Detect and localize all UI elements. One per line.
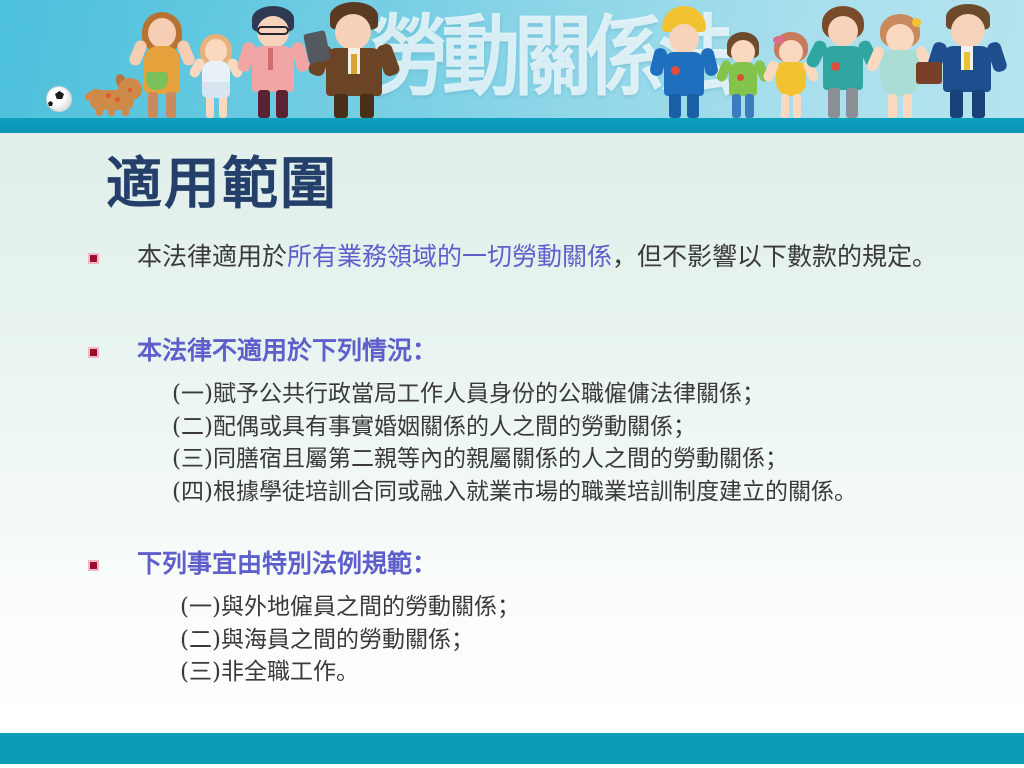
sub-list-3: (一)與外地僱員之間的勞動關係； (二)與海員之間的勞動關係； (三)非全職工作…	[180, 591, 520, 689]
slide-body: 適用範圍 本法律適用於所有業務領域的一切勞動關係，但不影響以下數款的規定。 本法…	[0, 133, 1024, 733]
soccer-ball-icon	[46, 86, 72, 112]
header-teal-divider	[0, 118, 1024, 133]
bullet-1-highlight: 所有業務領域的一切勞動關係	[287, 242, 612, 271]
sub-list-2: (一)賦予公共行政當局工作人員身份的公職僱傭法律關係； (二)配偶或具有事實婚姻…	[172, 378, 857, 509]
sub-item: (一)賦予公共行政當局工作人員身份的公職僱傭法律關係；	[172, 378, 857, 411]
tablet-icon	[303, 30, 331, 64]
bullet-item-3: 下列事宜由特別法例規範：	[88, 548, 437, 580]
businessman-illustration-1	[310, 2, 398, 118]
sub-item: (三)非全職工作。	[180, 656, 520, 689]
bullet-1-tail: ，但不影響以下數款的規定。	[612, 242, 937, 271]
man-with-glasses-illustration	[238, 6, 310, 118]
boy-illustration-green	[716, 30, 770, 118]
briefcase-icon	[916, 62, 942, 84]
sub-item: (四)根據學徒培訓合同或融入就業市場的職業培訓制度建立的關係。	[172, 476, 857, 509]
businessman-illustration-2	[928, 4, 1006, 118]
sub-item: (二)配偶或具有事實婚姻關係的人之間的勞動關係；	[172, 411, 857, 444]
sub-item: (二)與海員之間的勞動關係；	[180, 624, 520, 657]
bullet-1-lead: 本法律適用於	[137, 242, 287, 271]
bullet-item-2: 本法律不適用於下列情況：	[88, 335, 437, 367]
presentation-slide: 勞動關係法	[0, 0, 1024, 768]
sub-item: (三)同膳宿且屬第二親等內的親屬關係的人之間的勞動關係；	[172, 443, 857, 476]
bullet-marker-icon	[88, 560, 99, 571]
construction-worker-illustration	[648, 6, 720, 118]
page-title: 適用範圍	[106, 152, 338, 216]
bullet-3-heading: 下列事宜由特別法例規範：	[137, 548, 437, 580]
header-banner: 勞動關係法	[0, 0, 1024, 118]
bullet-item-1: 本法律適用於所有業務領域的一切勞動關係，但不影響以下數款的規定。	[88, 241, 968, 273]
woman-with-basket-illustration	[128, 10, 198, 118]
bullet-marker-icon	[88, 347, 99, 358]
bullet-1-text: 本法律適用於所有業務領域的一切勞動關係，但不影響以下數款的規定。	[137, 241, 937, 273]
bullet-2-heading: 本法律不適用於下列情況：	[137, 335, 437, 367]
girl-illustration-1	[190, 30, 244, 118]
bullet-marker-icon	[88, 253, 99, 264]
sub-item: (一)與外地僱員之間的勞動關係；	[180, 591, 520, 624]
footer-band	[0, 733, 1024, 764]
